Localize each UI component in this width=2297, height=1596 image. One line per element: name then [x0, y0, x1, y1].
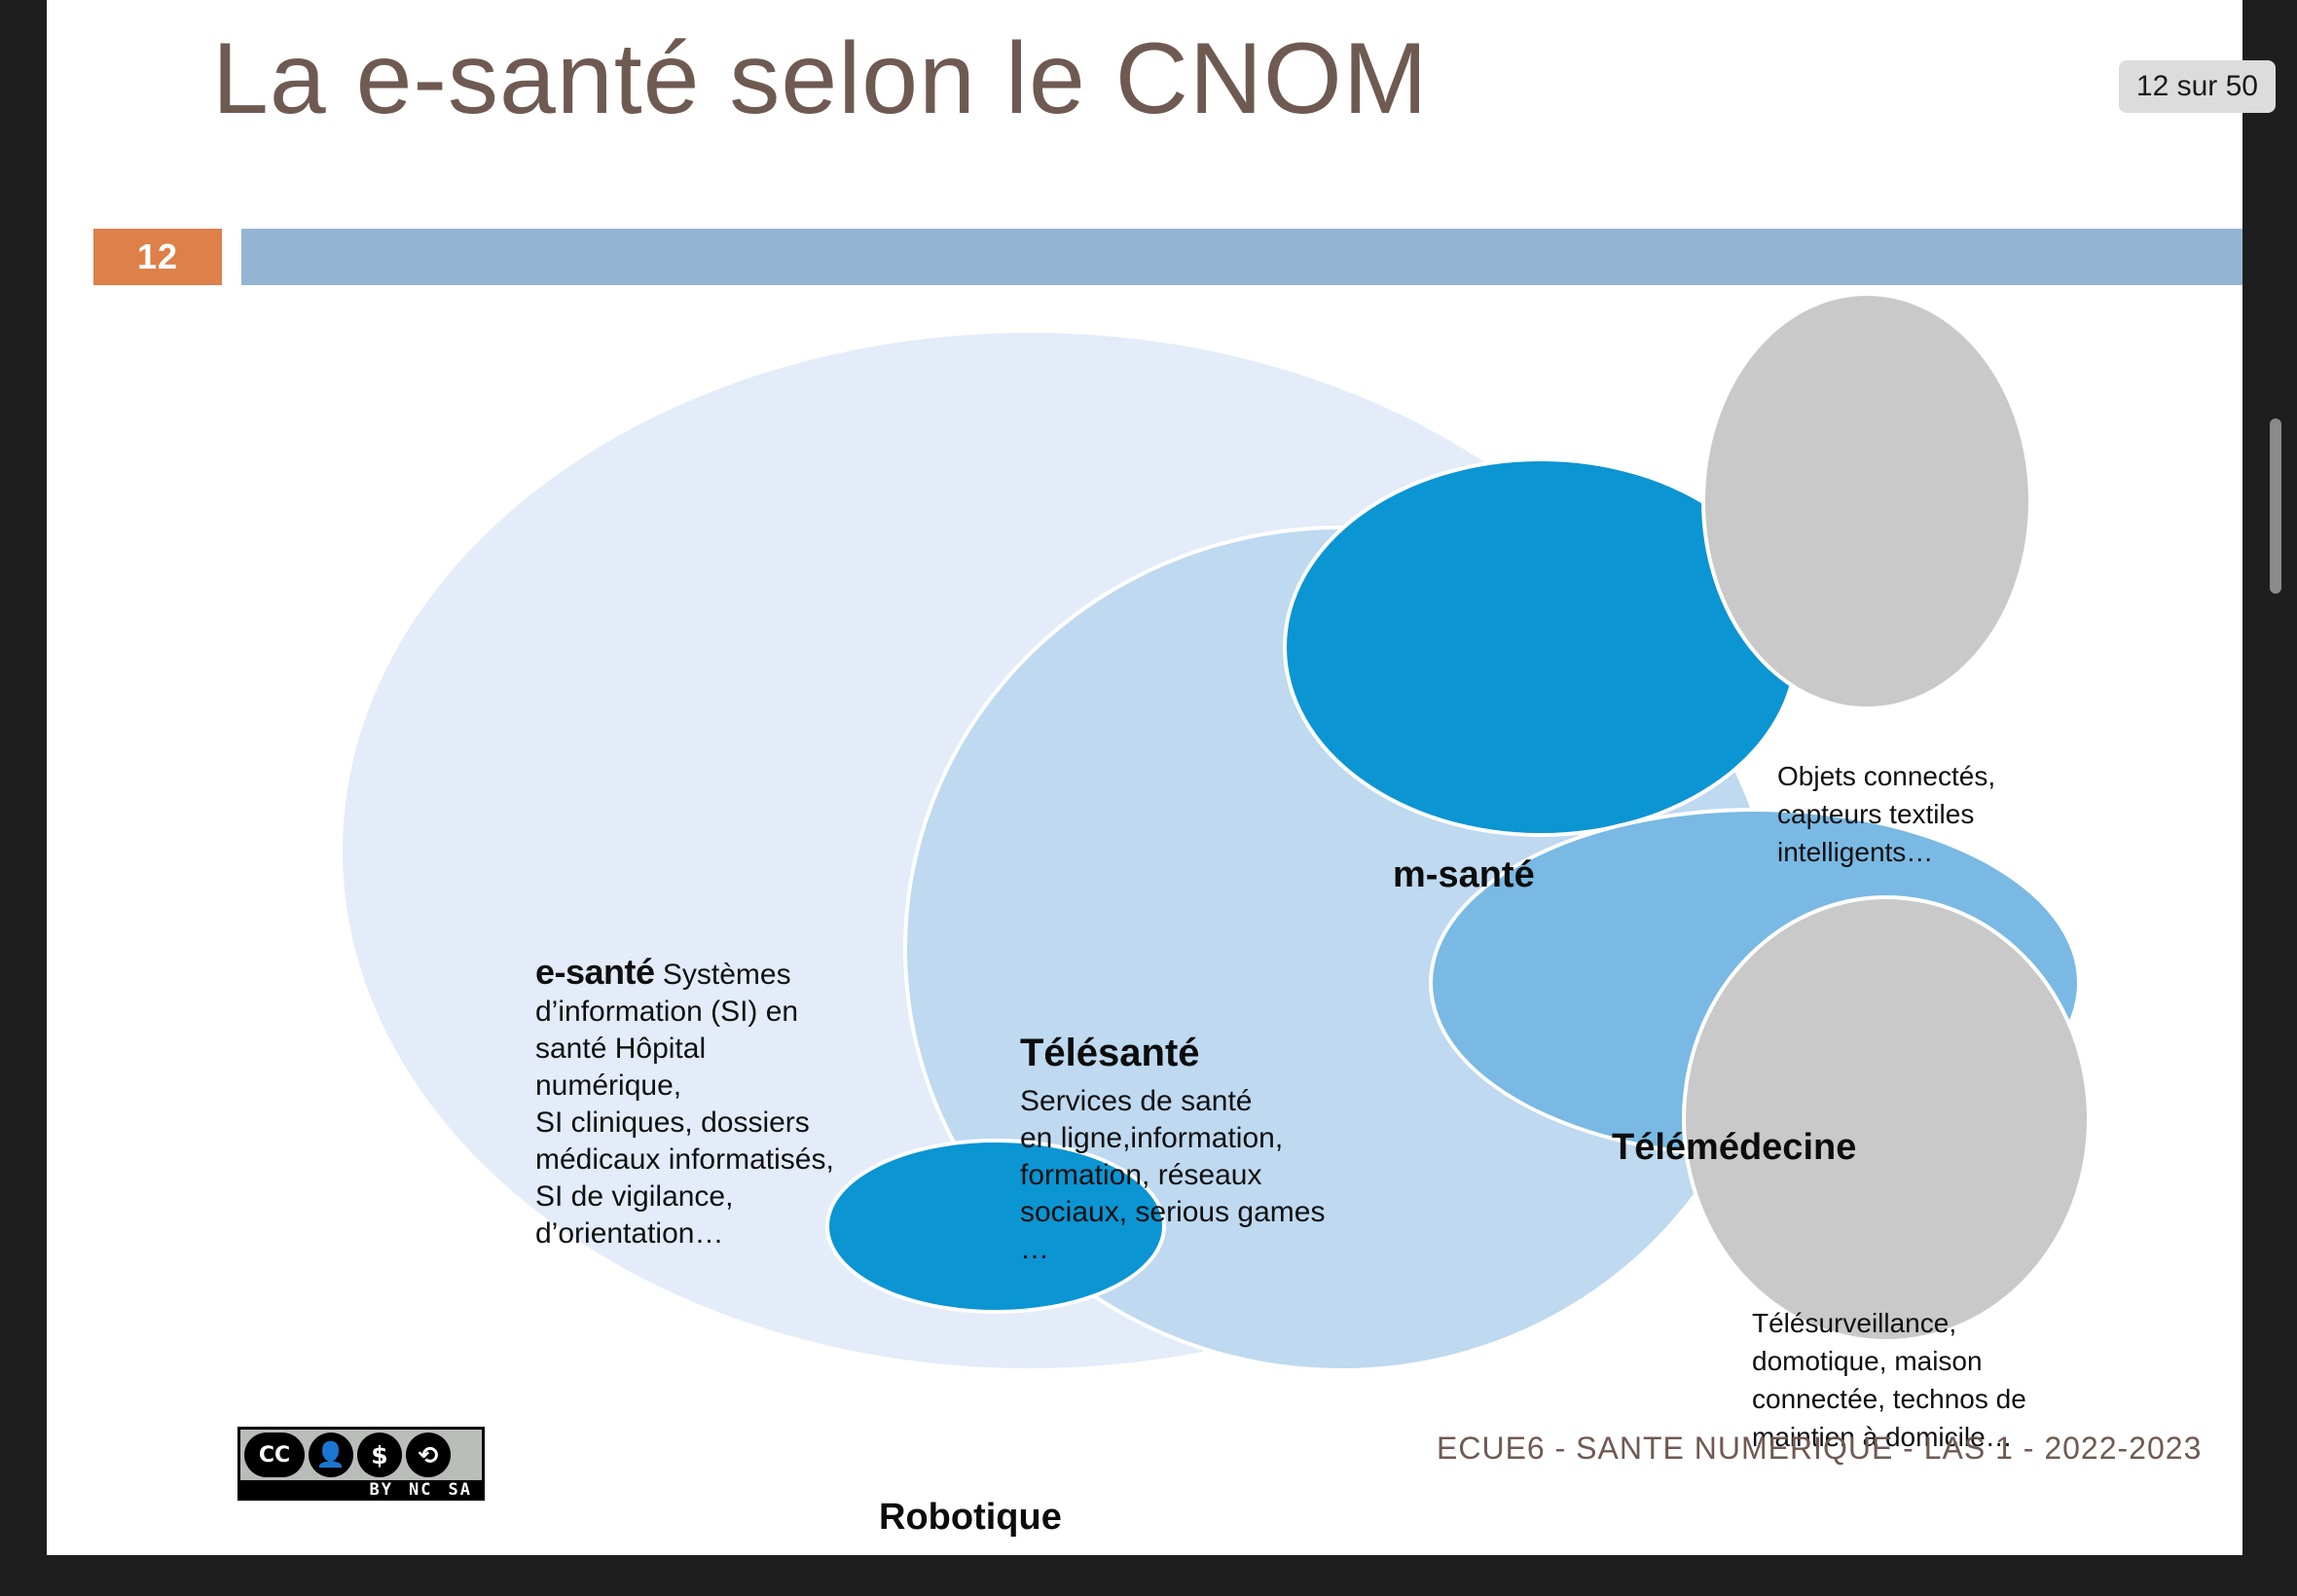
page-title: La e-santé selon le CNOM [212, 21, 2061, 137]
cc-label-by: BY [370, 1480, 393, 1500]
text-telesante-body: Services de santé en ligne,information, … [1020, 1083, 1361, 1268]
cc-label-nc: NC [409, 1480, 432, 1500]
page-indicator: 12 sur 50 [2119, 60, 2276, 113]
header-rule [241, 229, 2242, 285]
venn-diagram: m-santé Télémédecine Robotique e-santé S… [47, 311, 2242, 1392]
cc-nc-icon: $ [357, 1433, 402, 1477]
cc-icon: CC [244, 1433, 305, 1477]
slide-number-badge: 12 [93, 229, 222, 285]
text-e-sante-body: Systèmes d’information (SI) en santé Hôp… [535, 959, 834, 1250]
footer-course-label: ECUE6 - SANTE NUMERIQUE - LAS 1 - 2022-2… [1437, 1431, 2202, 1467]
label-e-sante: e-santé [535, 952, 655, 992]
label-robotique: Robotique [879, 1497, 1062, 1539]
text-block-e-sante: e-santé Systèmes d’information (SI) en s… [535, 954, 837, 1252]
label-telesante: Télésanté [1020, 1032, 1200, 1075]
creative-commons-license-badge: CC 👤 $ ⟲ BY NC SA [237, 1427, 485, 1501]
circle-objets-connectes [1701, 292, 2032, 710]
label-m-sante: m-santé [1393, 854, 1535, 896]
vertical-scrollbar-thumb[interactable] [2270, 418, 2281, 594]
cc-badge-icons: CC 👤 $ ⟲ [240, 1430, 482, 1480]
circle-telesurveillance [1682, 895, 2091, 1343]
pdf-viewer: La e-santé selon le CNOM 12 m-santé Télé… [0, 0, 2297, 1596]
text-objets-connectes: Objets connectés, capteurs textiles inte… [1777, 757, 2030, 871]
cc-sa-icon: ⟲ [406, 1433, 451, 1477]
slide-page: La e-santé selon le CNOM 12 m-santé Télé… [47, 0, 2242, 1555]
cc-label-sa: SA [449, 1480, 472, 1500]
label-telemedecine: Télémédecine [1612, 1127, 1856, 1169]
vertical-scrollbar[interactable] [2242, 0, 2297, 1596]
cc-by-icon: 👤 [309, 1433, 353, 1477]
cc-badge-labels: BY NC SA [240, 1480, 482, 1500]
